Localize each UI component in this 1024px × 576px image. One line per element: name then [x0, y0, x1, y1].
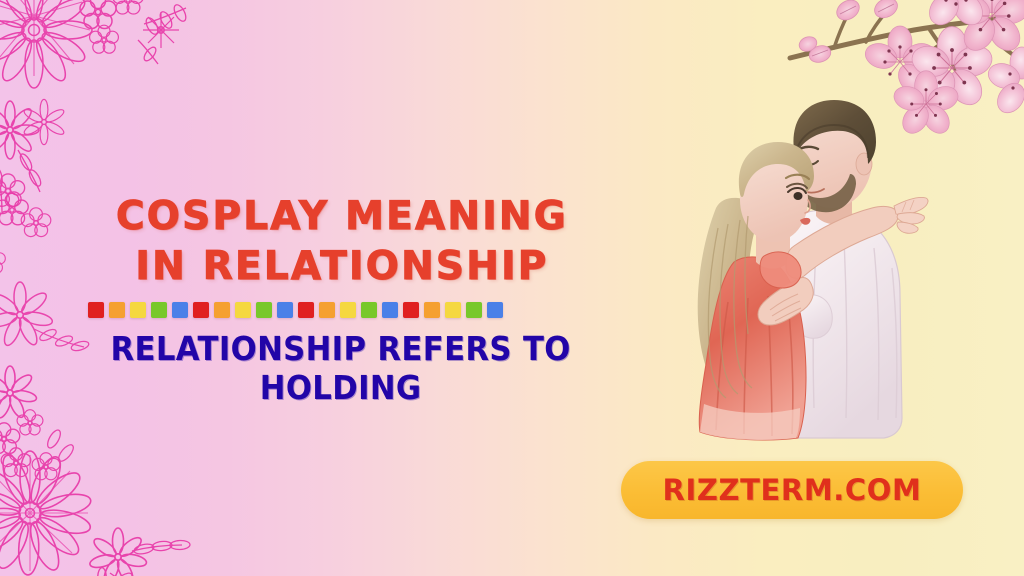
- divider-square: [403, 302, 419, 318]
- website-cta-button[interactable]: RIZZTERM.COM: [621, 461, 963, 519]
- divider-square: [319, 302, 335, 318]
- divider-square: [466, 302, 482, 318]
- subtitle: RELATIONSHIP REFERS TO HOLDING: [103, 330, 596, 408]
- page-title: COSPLAY MEANING IN RELATIONSHIP: [84, 192, 614, 292]
- text-block: COSPLAY MEANING IN RELATIONSHIP RELATION…: [84, 192, 614, 408]
- divider-square: [88, 302, 104, 318]
- divider-square: [130, 302, 146, 318]
- promo-banner: COSPLAY MEANING IN RELATIONSHIP RELATION…: [0, 0, 1024, 576]
- divider-square: [256, 302, 272, 318]
- divider-square: [298, 302, 314, 318]
- divider-square: [424, 302, 440, 318]
- rainbow-square-divider: [88, 302, 503, 318]
- divider-square: [361, 302, 377, 318]
- divider-square: [235, 302, 251, 318]
- divider-square: [487, 302, 503, 318]
- couple-illustration: [648, 88, 938, 443]
- divider-square: [172, 302, 188, 318]
- divider-square: [109, 302, 125, 318]
- divider-square: [340, 302, 356, 318]
- divider-square: [193, 302, 209, 318]
- divider-square: [151, 302, 167, 318]
- divider-square: [277, 302, 293, 318]
- divider-square: [214, 302, 230, 318]
- divider-square: [382, 302, 398, 318]
- cherry-blossom-branch-icon: [780, 0, 1024, 161]
- divider-square: [445, 302, 461, 318]
